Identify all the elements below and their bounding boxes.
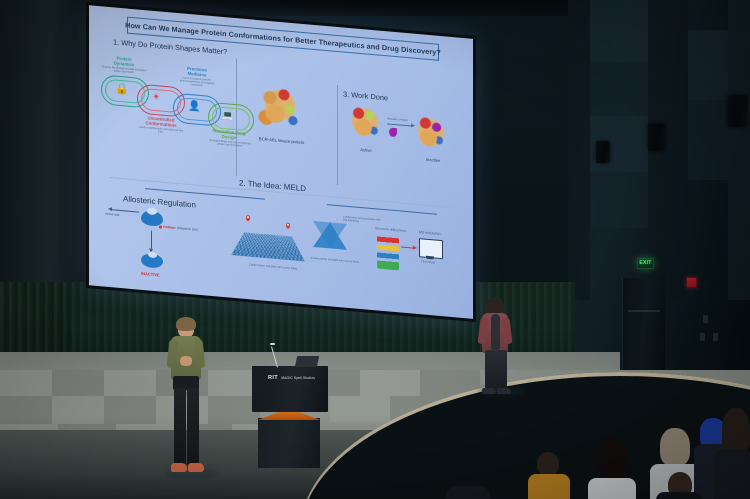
exit-sign-label: EXIT bbox=[639, 261, 651, 266]
audience-6-body bbox=[656, 492, 702, 499]
misfold-icon: ✴ bbox=[152, 93, 160, 104]
presenter-right-shoe-left bbox=[482, 388, 496, 394]
audience-7-body bbox=[446, 486, 490, 499]
inactive-label: INACTIVE bbox=[141, 271, 160, 278]
allosteric-down-arrow bbox=[151, 231, 152, 249]
wall-speaker-right bbox=[728, 95, 747, 127]
energy-surface-mesh bbox=[231, 232, 304, 261]
podium-brand-label: RIT MAGIC Spell Studios bbox=[268, 375, 315, 381]
podium-laptop-screen[interactable] bbox=[295, 356, 319, 367]
audience-5-body bbox=[714, 450, 750, 499]
fire-alarm-pull-station-icon[interactable] bbox=[686, 277, 697, 288]
presenter-right-shirt bbox=[491, 314, 500, 350]
audience-1-body bbox=[528, 474, 570, 499]
outlet-plate-right[interactable] bbox=[713, 333, 718, 341]
audience-5-head bbox=[722, 408, 750, 454]
wall-speaker-left bbox=[596, 141, 610, 163]
active-site-arrow-head bbox=[108, 206, 112, 210]
podium-top bbox=[252, 366, 328, 412]
presenter-left-leg-left bbox=[174, 388, 186, 466]
outlet-plate-left[interactable] bbox=[700, 333, 705, 341]
slide-content: How Can We Manage Protein Conformations … bbox=[89, 5, 473, 319]
presenter-right-leg-left bbox=[485, 350, 496, 392]
divider-right bbox=[337, 85, 338, 185]
patient-icon: 👤 bbox=[188, 102, 200, 113]
funnel-caption: Conformers not accessible with this samp… bbox=[343, 215, 385, 225]
presenter-left-shoe-right bbox=[188, 463, 204, 472]
projection-screen: How Can We Manage Protein Conformations … bbox=[86, 2, 476, 322]
md-simulation-caption: MD simulation bbox=[419, 230, 440, 236]
work-done-arrow bbox=[387, 123, 413, 126]
allosteric-inhibitor-glyph bbox=[389, 128, 397, 138]
presenter-left-leg-right bbox=[187, 388, 199, 466]
wall-speaker-center bbox=[648, 124, 665, 151]
presenter-left-hands bbox=[180, 356, 192, 366]
work-done-arrow-label: Allosteric inhibitor bbox=[387, 117, 408, 122]
allosteric-site-label: (Allosteric site) bbox=[177, 226, 198, 232]
podium-base bbox=[258, 418, 320, 468]
auditorium-photo: EXIT How Can We Manage Protein Conformat… bbox=[0, 0, 750, 499]
inactive-site-notch bbox=[148, 251, 157, 258]
presenter-right-shoe-right bbox=[497, 388, 511, 394]
door-push-bar bbox=[628, 310, 660, 312]
bcr-abl-caption: BCR-ABL kinase protein. bbox=[249, 135, 315, 146]
podium-brand-subtitle: MAGIC Spell Studios bbox=[281, 376, 315, 380]
left-wall bbox=[0, 0, 92, 300]
presenter-left-hair bbox=[176, 317, 196, 331]
section-heading-3: 3. Work Done bbox=[343, 89, 388, 102]
audience-2-head bbox=[598, 438, 626, 480]
work-done-inactive-label: Inactive bbox=[417, 156, 449, 164]
flow-arrow-top-right bbox=[327, 204, 437, 215]
projected-slide: How Can We Manage Protein Conformations … bbox=[89, 5, 473, 319]
lock-icon: 🔒 bbox=[115, 84, 129, 96]
surface-pin-left bbox=[246, 215, 250, 221]
active-site-label: Active site bbox=[105, 212, 120, 217]
presenter-right-leg-right bbox=[496, 350, 507, 392]
inhibitor-dot bbox=[159, 225, 162, 228]
surface-pin-right bbox=[286, 222, 290, 228]
exit-sign: EXIT bbox=[637, 258, 654, 269]
md-simulation-sub-caption: Final State bbox=[421, 260, 435, 265]
audience-2-body bbox=[588, 478, 636, 499]
ribbon-structure-glyph bbox=[377, 234, 399, 270]
conformation-funnel-mirror bbox=[313, 221, 347, 250]
allosteric-title: Allosteric Regulation bbox=[123, 194, 196, 209]
active-site-notch bbox=[147, 207, 157, 215]
audience-3-head bbox=[660, 428, 690, 466]
screen-icon: 💻 bbox=[222, 111, 233, 121]
audience-1-head bbox=[537, 452, 559, 476]
refinement-arrow-head bbox=[413, 245, 417, 249]
funnel-sub-caption: Conformation sampled with coarse Meld bbox=[311, 257, 359, 264]
work-done-active-label: Active bbox=[351, 146, 381, 154]
surface-caption: Conformation sampled with coarse Meld bbox=[249, 263, 299, 271]
structure-refinement-caption: Structure refinement bbox=[375, 226, 406, 233]
podium-brand-rit: RIT bbox=[268, 375, 278, 381]
inhibitor-label: Inhibitor bbox=[163, 225, 176, 230]
light-switch-plate[interactable] bbox=[703, 315, 708, 323]
presenter-left-shoe-left bbox=[171, 463, 187, 472]
